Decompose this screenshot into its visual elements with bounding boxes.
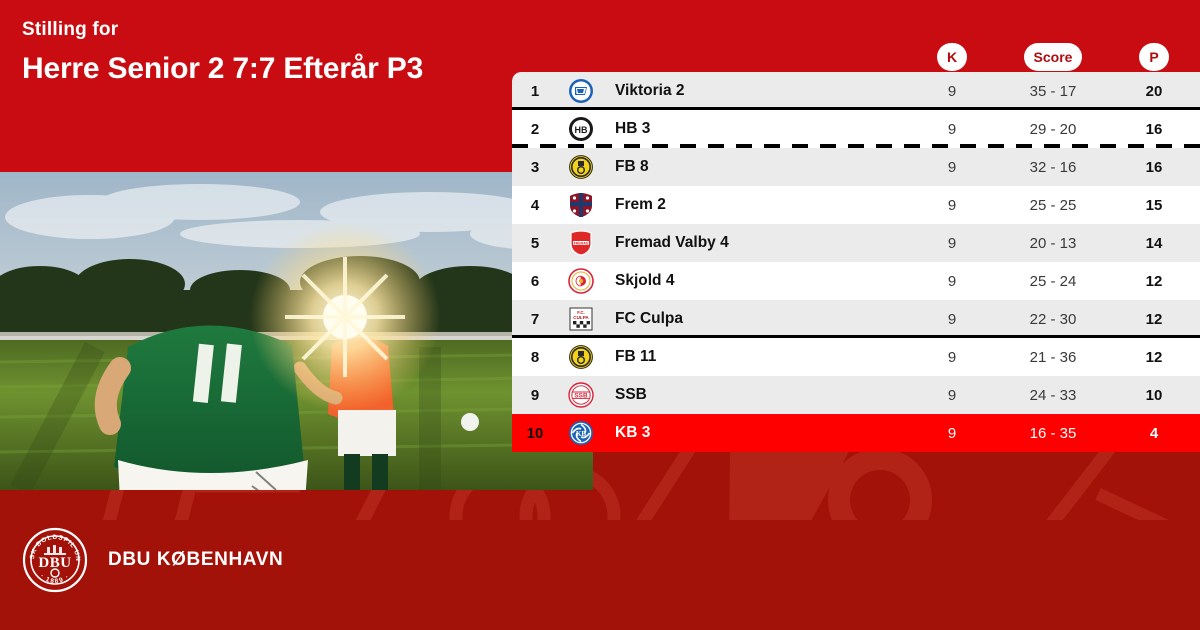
row-matches-played: 9 <box>906 349 998 366</box>
row-goal-score: 20 - 13 <box>998 235 1108 252</box>
table-row[interactable]: 1 Viktoria 2 9 35 - 17 20 <box>512 72 1200 110</box>
row-position: 7 <box>512 311 558 328</box>
fc-culpa-badge: F.C. CULPA <box>558 306 604 332</box>
skjold-badge <box>558 268 604 294</box>
row-position: 3 <box>512 159 558 176</box>
hb-badge: HB <box>558 116 604 142</box>
row-matches-played: 9 <box>906 273 998 290</box>
fb-badge <box>558 154 604 180</box>
row-points: 16 <box>1108 159 1200 176</box>
frem-badge <box>558 192 604 218</box>
row-matches-played: 9 <box>906 235 998 252</box>
row-matches-played: 9 <box>906 197 998 214</box>
kb-badge: KB <box>558 420 604 446</box>
row-position: 4 <box>512 197 558 214</box>
row-team-name: SSB <box>604 386 906 404</box>
fremad-valby-badge: FREMAD <box>558 230 604 256</box>
header-kicker: Stilling for <box>22 20 492 41</box>
table-row[interactable]: 10 KB KB 3 9 16 - 35 4 <box>512 414 1200 452</box>
row-position: 2 <box>512 121 558 138</box>
row-team-name: Fremad Valby 4 <box>604 234 906 252</box>
standings-graphic: Stilling for Herre Senior 2 7:7 Efterår … <box>0 0 1200 630</box>
svg-text:SSB: SSB <box>574 392 588 399</box>
table-row[interactable]: 7 F.C. CULPA FC Culpa 9 22 - 30 12 <box>512 300 1200 338</box>
row-team-name: FB 11 <box>604 348 906 366</box>
row-matches-played: 9 <box>906 311 998 328</box>
header-text: Stilling for Herre Senior 2 7:7 Efterår … <box>22 20 492 86</box>
row-goal-score: 25 - 24 <box>998 273 1108 290</box>
row-matches-played: 9 <box>906 121 998 138</box>
svg-text:CULPA: CULPA <box>573 315 589 320</box>
row-goal-score: 32 - 16 <box>998 159 1108 176</box>
row-team-name: FB 8 <box>604 158 906 176</box>
table-row[interactable]: 6 Skjold 4 9 25 - 24 12 <box>512 262 1200 300</box>
row-points: 12 <box>1108 311 1200 328</box>
row-points: 15 <box>1108 197 1200 214</box>
row-points: 16 <box>1108 121 1200 138</box>
pill-p: P <box>1139 43 1168 71</box>
table-row[interactable]: 2 HB HB 3 9 29 - 20 16 <box>512 110 1200 148</box>
table-row[interactable]: 5 FREMAD Fremad Valby 4 9 20 - 13 14 <box>512 224 1200 262</box>
row-matches-played: 9 <box>906 387 998 404</box>
football-match-photo <box>0 172 593 490</box>
row-points: 12 <box>1108 349 1200 366</box>
row-position: 1 <box>512 83 558 100</box>
row-points: 4 <box>1108 425 1200 442</box>
column-header-k: K <box>906 42 998 72</box>
row-position: 5 <box>512 235 558 252</box>
table-row[interactable]: 3 FB 8 9 32 - 16 16 <box>512 148 1200 186</box>
row-points: 10 <box>1108 387 1200 404</box>
row-goal-score: 29 - 20 <box>998 121 1108 138</box>
ssb-badge: SSB <box>558 382 604 408</box>
page-title: Herre Senior 2 7:7 Efterår P3 <box>22 51 492 86</box>
row-position: 10 <box>512 425 558 442</box>
svg-text:KB: KB <box>576 430 586 438</box>
viktoria-badge <box>558 78 604 104</box>
row-divider-solid <box>512 107 1200 110</box>
organization-name: DBU KØBENHAVN <box>108 549 283 571</box>
row-goal-score: 35 - 17 <box>998 83 1108 100</box>
svg-text:· 1889 ·: · 1889 · <box>39 573 72 585</box>
row-position: 8 <box>512 349 558 366</box>
column-header-score: Score <box>998 42 1108 72</box>
row-team-name: FC Culpa <box>604 310 906 328</box>
fb-badge <box>558 344 604 370</box>
row-points: 12 <box>1108 273 1200 290</box>
svg-text:FREMAD: FREMAD <box>574 241 589 245</box>
svg-text:HB: HB <box>575 125 588 135</box>
row-goal-score: 22 - 30 <box>998 311 1108 328</box>
row-team-name: KB 3 <box>604 424 906 442</box>
row-team-name: HB 3 <box>604 120 906 138</box>
row-goal-score: 24 - 33 <box>998 387 1108 404</box>
pill-score: Score <box>1024 43 1083 71</box>
row-goal-score: 16 - 35 <box>998 425 1108 442</box>
row-position: 6 <box>512 273 558 290</box>
row-matches-played: 9 <box>906 425 998 442</box>
row-goal-score: 21 - 36 <box>998 349 1108 366</box>
row-points: 20 <box>1108 83 1200 100</box>
row-divider-dashed <box>512 144 1200 148</box>
row-points: 14 <box>1108 235 1200 252</box>
row-divider-solid <box>512 335 1200 338</box>
standings-table: 1 Viktoria 2 9 35 - 17 202 HB HB 3 9 29 … <box>512 72 1200 452</box>
table-row[interactable]: 8 FB 11 9 21 - 36 12 <box>512 338 1200 376</box>
dbu-logo-icon: DANSK BOLDSPIL UNION DBU · 1889 · <box>22 527 88 593</box>
table-row[interactable]: 4 Frem 2 9 25 - 25 15 <box>512 186 1200 224</box>
row-goal-score: 25 - 25 <box>998 197 1108 214</box>
table-row[interactable]: 9 SSB SSB 9 24 - 33 10 <box>512 376 1200 414</box>
footer: DANSK BOLDSPIL UNION DBU · 1889 · DBU KØ… <box>0 490 1200 630</box>
table-header-pills: K Score P <box>512 42 1200 72</box>
row-position: 9 <box>512 387 558 404</box>
pill-spacer <box>512 42 906 72</box>
row-matches-played: 9 <box>906 83 998 100</box>
row-team-name: Viktoria 2 <box>604 82 906 100</box>
row-team-name: Skjold 4 <box>604 272 906 290</box>
column-header-p: P <box>1108 42 1200 72</box>
row-matches-played: 9 <box>906 159 998 176</box>
row-team-name: Frem 2 <box>604 196 906 214</box>
pill-k: K <box>937 43 967 71</box>
